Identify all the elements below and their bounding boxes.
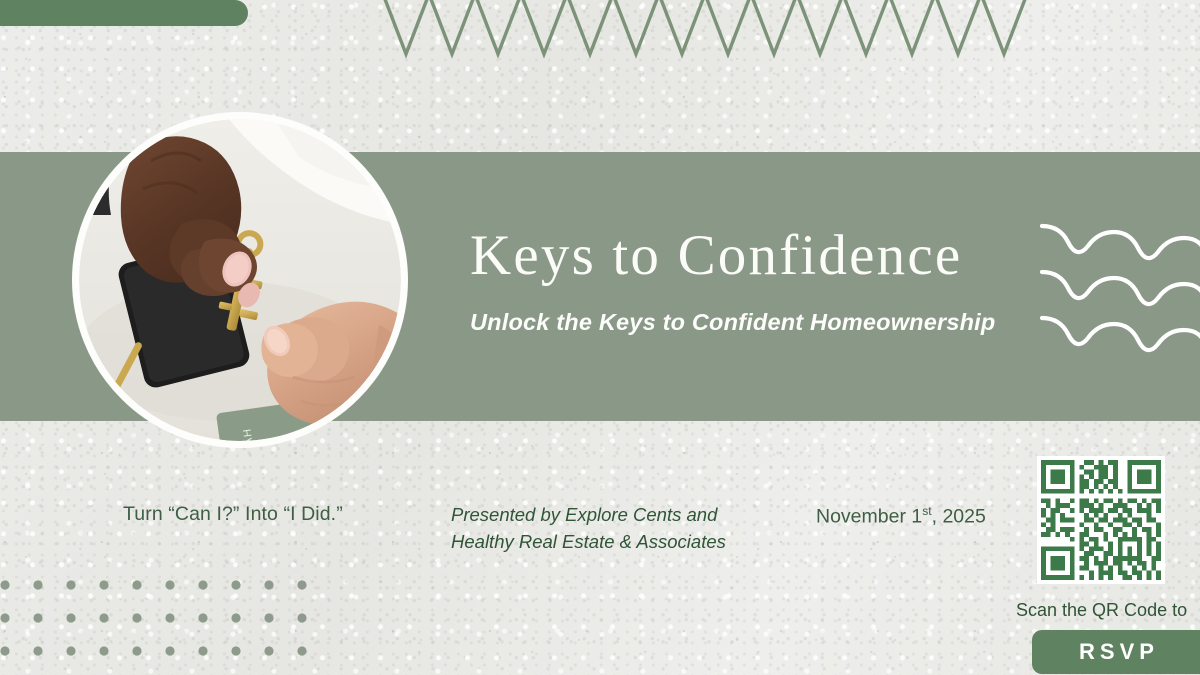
wavy-lines-decoration-icon bbox=[1040, 212, 1200, 364]
event-flyer: AH bbox=[0, 0, 1200, 675]
event-date-ordinal: st bbox=[922, 504, 931, 518]
tagline-text: Turn “Can I?” Into “I Did.” bbox=[123, 503, 343, 526]
dot-grid-decoration-icon bbox=[0, 570, 320, 675]
rsvp-button[interactable]: RSVP bbox=[1032, 630, 1200, 674]
page-title: Keys to Confidence bbox=[470, 225, 1050, 287]
hands-exchanging-key-photo: AH bbox=[72, 112, 408, 448]
rsvp-button-label: RSVP bbox=[1079, 639, 1159, 665]
top-left-accent-bar bbox=[0, 0, 248, 26]
title-block: Keys to Confidence Unlock the Keys to Co… bbox=[470, 225, 1050, 336]
svg-text:AH: AH bbox=[241, 427, 255, 441]
event-date-year: , 2025 bbox=[932, 506, 986, 528]
event-date-monthday: November 1 bbox=[816, 506, 922, 528]
photo-illustration: AH bbox=[79, 119, 401, 441]
presenter-text: Presented by Explore Cents and Healthy R… bbox=[451, 501, 751, 556]
scan-instruction-text: Scan the QR Code to bbox=[1016, 600, 1187, 621]
presenter-line-1: Presented by Explore Cents and bbox=[451, 501, 751, 528]
event-date: November 1st, 2025 bbox=[816, 504, 986, 529]
zigzag-decoration-icon bbox=[383, 0, 1043, 60]
qr-code-matrix bbox=[1041, 460, 1161, 580]
qr-code-icon[interactable] bbox=[1037, 456, 1165, 584]
presenter-line-2: Healthy Real Estate & Associates bbox=[451, 528, 751, 555]
photo-inner: AH bbox=[79, 119, 401, 441]
subtitle: Unlock the Keys to Confident Homeownersh… bbox=[470, 309, 1050, 336]
